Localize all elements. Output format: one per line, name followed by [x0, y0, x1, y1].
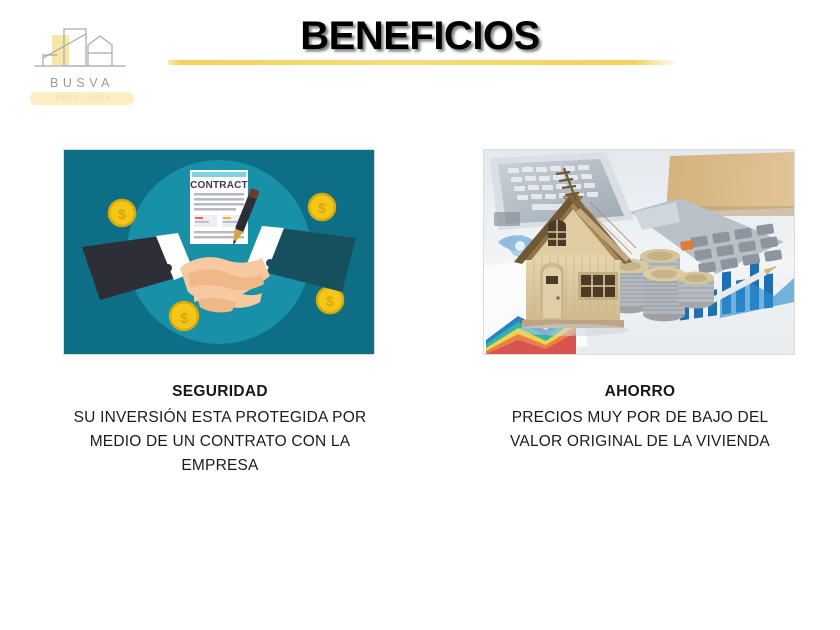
svg-text:CONTRACT: CONTRACT	[190, 180, 248, 191]
brand-logo: BUSVA INMOBILIARIA	[26, 26, 138, 108]
model-house-coins-photo	[484, 150, 794, 354]
benefit-title: AHORRO	[484, 382, 796, 402]
svg-text:$: $	[180, 310, 189, 327]
benefit-card-seguridad: $ $ $ $ CONTRACT	[64, 150, 376, 478]
handshake-contract-illustration: $ $ $ $ CONTRACT	[64, 150, 374, 354]
benefit-image-seguridad: $ $ $ $ CONTRACT	[64, 150, 374, 354]
logo-wordmark: BUSVA	[26, 76, 138, 90]
benefit-title: SEGURIDAD	[64, 382, 376, 402]
page-title: BENEFICIOS	[170, 16, 670, 56]
logo-tagline: INMOBILIARIA	[30, 92, 134, 105]
buildings-outline-icon	[26, 26, 138, 78]
slide-header: BUSVA INMOBILIARIA BENEFICIOS	[0, 0, 840, 120]
svg-text:$: $	[318, 200, 326, 216]
benefit-caption-seguridad: SEGURIDAD SU INVERSIÓN ESTA PROTEGIDA PO…	[64, 382, 376, 478]
title-underline-rule	[168, 60, 674, 65]
benefit-body: SU INVERSIÓN ESTA PROTEGIDA POR MEDIO DE…	[64, 406, 376, 478]
svg-text:$: $	[326, 293, 334, 309]
svg-text:$: $	[118, 206, 126, 222]
benefit-card-ahorro: AHORRO PRECIOS MUY POR DE BAJO DEL VALOR…	[484, 150, 796, 454]
benefit-image-ahorro	[484, 150, 794, 354]
benefit-body: PRECIOS MUY POR DE BAJO DEL VALOR ORIGIN…	[484, 406, 796, 454]
benefit-caption-ahorro: AHORRO PRECIOS MUY POR DE BAJO DEL VALOR…	[484, 382, 796, 454]
